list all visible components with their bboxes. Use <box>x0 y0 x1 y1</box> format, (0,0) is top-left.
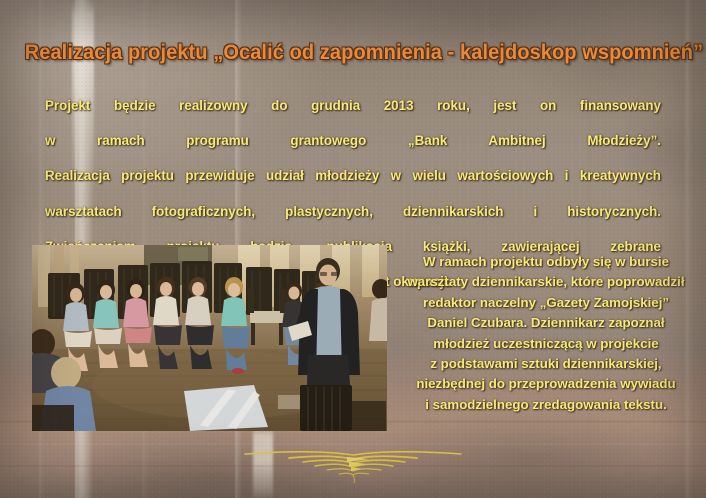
caption-line: niezbędnej do przeprowadzenia wywiadu <box>396 374 696 394</box>
body-line: Realizacja projektu przewiduje udział mł… <box>45 167 661 202</box>
workshop-photo <box>32 245 387 431</box>
caption-line: W ramach projektu odbyły się w bursie <box>396 252 696 272</box>
body-line: w ramach programu grantowego „Bank Ambit… <box>45 132 661 167</box>
caption-line: warsztaty dziennikarskie, które poprowad… <box>396 272 696 292</box>
caption-line: młodzież uczestniczącą w projekcie <box>396 334 696 354</box>
presentation-slide: Realizacja projektu „Ocalić od zapomnien… <box>0 0 706 498</box>
workshop-photo-image <box>32 245 387 431</box>
slide-title: Realizacja projektu „Ocalić od zapomnien… <box>25 40 682 65</box>
caption-line: Daniel Czubara. Dziennikarz zapoznał <box>396 313 696 333</box>
caption-line: z podstawami sztuki dziennikarskiej, <box>396 354 696 374</box>
caption-line: i samodzielnego zredagowania tekstu. <box>396 395 696 415</box>
caption-line: redaktor naczelny „Gazety Zamojskiej” <box>396 293 696 313</box>
gold-flourish-divider-icon <box>243 443 463 483</box>
photo-caption: W ramach projektu odbyły się w bursie wa… <box>396 252 696 415</box>
body-line: warsztatach fotograficznych, plastycznyc… <box>45 203 661 238</box>
body-line: Projekt będzie realizowny do grudnia 201… <box>45 97 661 132</box>
